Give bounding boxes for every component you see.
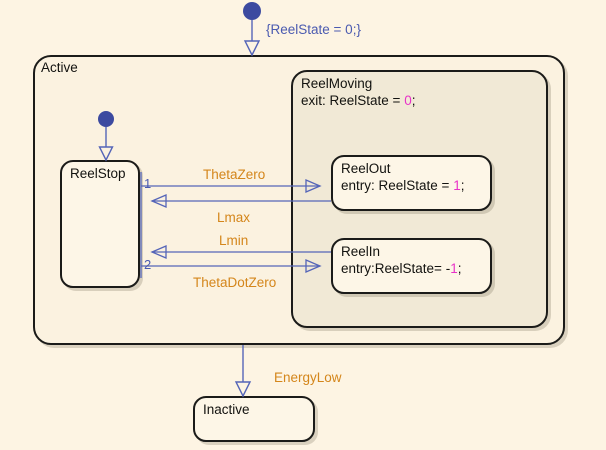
default-transition-dot-inner <box>98 111 114 127</box>
default-transition-arrow-outer <box>245 41 259 55</box>
default-transition-dot-outer <box>243 2 261 20</box>
transition-arrow-energylow <box>236 382 250 396</box>
transition-label-lmax: Lmax <box>217 210 250 225</box>
transition-label-lmin: Lmin <box>219 233 248 248</box>
transition-order-2: 2 <box>144 258 151 272</box>
stateflow-canvas: Active ReelMoving exit: ReelState = 0; R… <box>0 0 606 450</box>
transition-label-energylow: EnergyLow <box>274 370 342 385</box>
default-transition-arrow-inner <box>100 147 113 160</box>
default-transition-action-label: {ReelState = 0;} <box>266 22 361 37</box>
transition-label-thetazero: ThetaZero <box>203 167 265 182</box>
transition-label-thetadotzero: ThetaDotZero <box>193 275 276 290</box>
transition-order-1: 1 <box>144 177 151 191</box>
